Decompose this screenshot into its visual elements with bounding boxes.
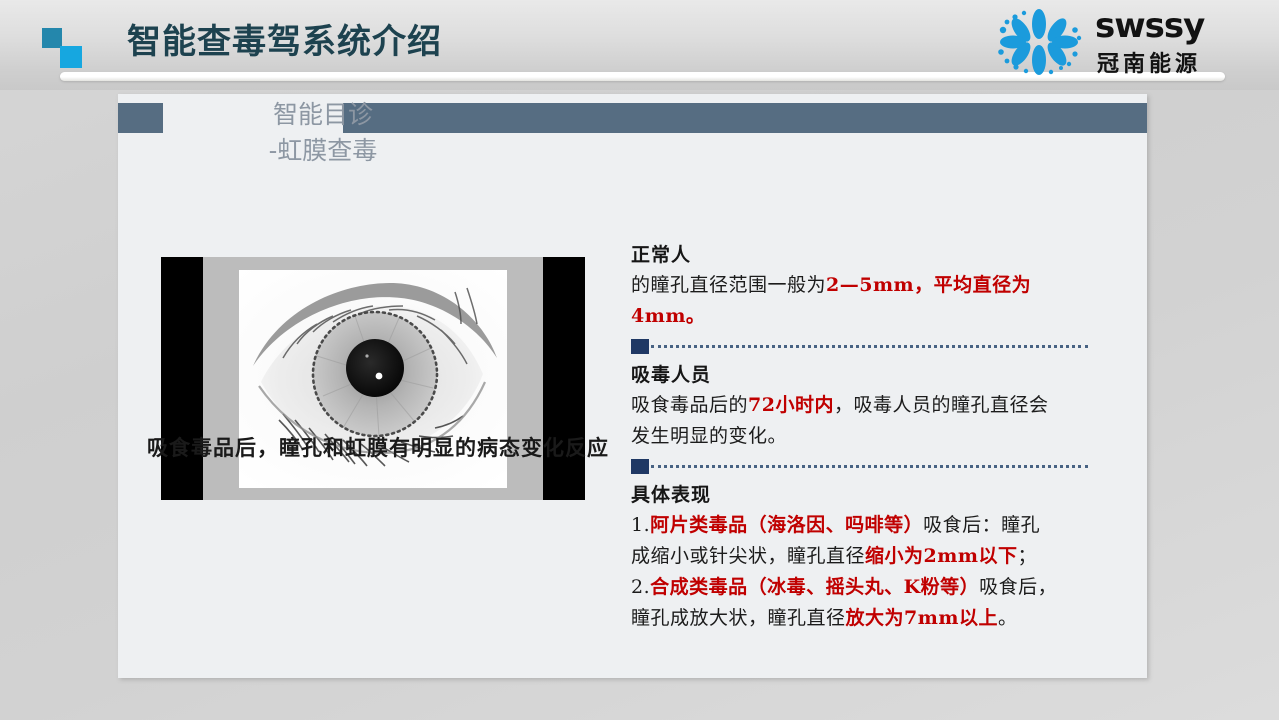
text-line: 吸食毒品后的72小时内，吸毒人员的瞳孔直径会 <box>631 390 1091 421</box>
square-mark-upper-icon <box>42 28 62 48</box>
text-line: 1.阿片类毒品（海洛因、吗啡等）吸食后：瞳孔 <box>631 510 1091 541</box>
flower-petals-icon <box>991 8 1087 76</box>
text-column: 正常人 的瞳孔直径范围一般为2—5mm，平均直径为 4mm。 吸毒人员 吸食毒品… <box>631 240 1091 634</box>
text-run-highlight: 缩小为2mm以下 <box>865 545 1017 567</box>
text-run-highlight: 阿片类毒品（海洛因、吗啡等） <box>650 514 923 536</box>
text-run: 吸食后， <box>979 576 1057 598</box>
dotted-rule <box>651 345 1088 348</box>
section-subtitle-line1: 智能目诊 <box>273 100 373 129</box>
text-line: 发生明显的变化。 <box>631 421 1091 452</box>
content-panel: 智能目诊 -虹膜查毒 <box>118 94 1147 678</box>
text-run-highlight: 72小时内 <box>748 394 834 416</box>
brand-chinese-name: 冠南能源 <box>1097 46 1201 78</box>
text-line: 2.合成类毒品（冰毒、摇头丸、K粉等）吸食后， <box>631 572 1091 603</box>
text-line: 瞳孔成放大状，瞳孔直径放大为7mm以上。 <box>631 603 1091 634</box>
block-body-symptoms: 1.阿片类毒品（海洛因、吗啡等）吸食后：瞳孔 成缩小或针尖状，瞳孔直径缩小为2m… <box>631 510 1091 634</box>
block-heading-symptoms: 具体表现 <box>631 480 1091 510</box>
figure-caption: 吸食毒品后，瞳孔和虹膜有明显的病态变化反应 <box>138 432 618 462</box>
text-line: 4mm。 <box>631 301 1091 332</box>
bullet-square-icon <box>631 459 649 474</box>
text-run: 的瞳孔直径范围一般为 <box>631 274 826 296</box>
letterbox-bar-left <box>161 257 203 500</box>
block-body-addict: 吸食毒品后的72小时内，吸毒人员的瞳孔直径会 发生明显的变化。 <box>631 390 1091 452</box>
section-subtitle: 智能目诊 -虹膜查毒 <box>193 96 453 170</box>
text-run-highlight: 4mm。 <box>631 305 705 327</box>
block-body-normal: 的瞳孔直径范围一般为2—5mm，平均直径为 4mm。 <box>631 270 1091 332</box>
block-heading-normal: 正常人 <box>631 240 1091 270</box>
brand-wordmark: swssy <box>1095 8 1204 44</box>
text-run-highlight: 2—5mm，平均直径为 <box>826 274 1031 296</box>
page-title: 智能查毒驾系统介绍 <box>127 20 442 64</box>
text-run: 瞳孔成放大状，瞳孔直径 <box>631 607 846 629</box>
eye-figure <box>161 257 585 500</box>
text-run: 。 <box>998 607 1018 629</box>
block-heading-addict: 吸毒人员 <box>631 360 1091 390</box>
text-run: 1. <box>631 514 650 536</box>
section-subtitle-line2: -虹膜查毒 <box>193 132 453 170</box>
text-run: 成缩小或针尖状，瞳孔直径 <box>631 545 865 567</box>
text-line: 成缩小或针尖状，瞳孔直径缩小为2mm以下； <box>631 541 1091 572</box>
text-run: 2. <box>631 576 650 598</box>
square-mark-lower-icon <box>60 46 82 68</box>
text-run: 吸食后：瞳孔 <box>923 514 1040 536</box>
text-run: ，吸毒人员的瞳孔直径会 <box>834 394 1049 416</box>
banner-segment-left <box>118 103 163 133</box>
text-run: ； <box>1017 545 1037 567</box>
text-run: 发生明显的变化。 <box>631 425 787 447</box>
slide-header: 智能查毒驾系统介绍 <box>0 0 1279 90</box>
letterbox-bar-right <box>543 257 585 500</box>
section-separator <box>631 456 1091 478</box>
bullet-square-icon <box>631 339 649 354</box>
square-mark-icon <box>42 28 90 68</box>
banner-segment-right <box>343 103 1147 133</box>
text-run-highlight: 放大为7mm以上 <box>846 607 998 629</box>
text-run-highlight: 合成类毒品（冰毒、摇头丸、K粉等） <box>650 576 979 598</box>
text-run: 吸食毒品后的 <box>631 394 748 416</box>
text-line: 的瞳孔直径范围一般为2—5mm，平均直径为 <box>631 270 1091 301</box>
brand-logo: swssy 冠南能源 <box>991 6 1251 78</box>
dotted-rule <box>651 465 1088 468</box>
slide: 智能查毒驾系统介绍 <box>0 0 1279 720</box>
section-separator <box>631 336 1091 358</box>
